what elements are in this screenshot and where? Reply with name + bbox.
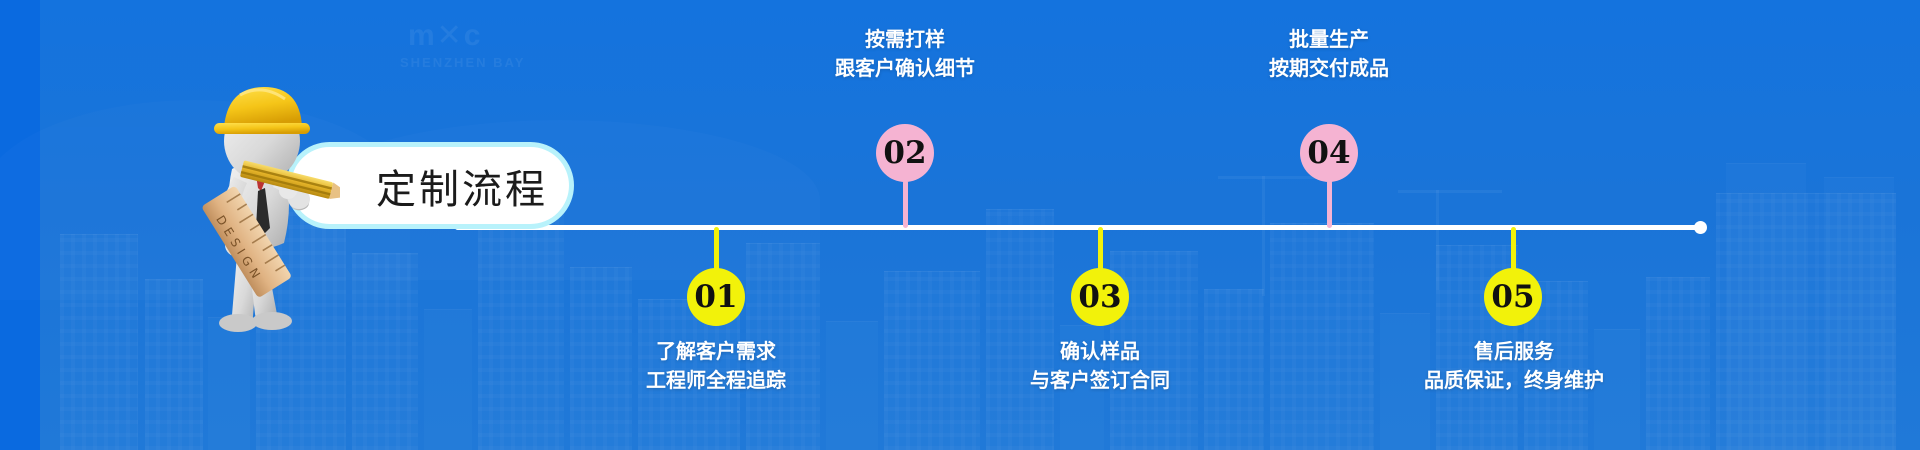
timeline-end-dot bbox=[1694, 221, 1707, 234]
step-badge-04[interactable]: 04 bbox=[1300, 124, 1358, 182]
step-caption-02: 按需打样 跟客户确认细节 bbox=[755, 25, 1055, 83]
step-caption-05-line-1: 售后服务 bbox=[1364, 337, 1664, 366]
step-caption-01: 了解客户需求 工程师全程追踪 bbox=[566, 277, 866, 395]
stem-05 bbox=[1511, 227, 1516, 272]
ghost-logo-mark: m✕c bbox=[408, 18, 483, 53]
step-caption-05: 售后服务 品质保证，终身维护 bbox=[1364, 277, 1664, 395]
step-caption-04-line-2: 按期交付成品 bbox=[1179, 54, 1479, 83]
step-caption-02-line-1: 按需打样 bbox=[755, 25, 1055, 54]
step-caption-01-line-1: 了解客户需求 bbox=[566, 337, 866, 366]
banner-stage: m✕c SHENZHEN BAY 定制流程 bbox=[0, 0, 1920, 450]
stem-01 bbox=[714, 227, 719, 272]
ghost-logo-text: SHENZHEN BAY bbox=[400, 55, 525, 70]
step-caption-04-line-1: 批量生产 bbox=[1179, 25, 1479, 54]
stem-02 bbox=[903, 180, 908, 228]
engineer-mascot: DESIGN bbox=[180, 65, 340, 335]
step-caption-03-line-2: 与客户签订合同 bbox=[950, 366, 1250, 395]
step-caption-01-line-2: 工程师全程追踪 bbox=[566, 366, 866, 395]
step-caption-02-line-2: 跟客户确认细节 bbox=[755, 54, 1055, 83]
stem-04 bbox=[1327, 180, 1332, 228]
step-caption-05-line-2: 品质保证，终身维护 bbox=[1364, 366, 1664, 395]
step-caption-03: 确认样品 与客户签订合同 bbox=[950, 277, 1250, 395]
stem-03 bbox=[1098, 227, 1103, 272]
step-caption-04: 批量生产 按期交付成品 bbox=[1179, 25, 1479, 83]
step-badge-02[interactable]: 02 bbox=[876, 124, 934, 182]
step-caption-03-line-1: 确认样品 bbox=[950, 337, 1250, 366]
